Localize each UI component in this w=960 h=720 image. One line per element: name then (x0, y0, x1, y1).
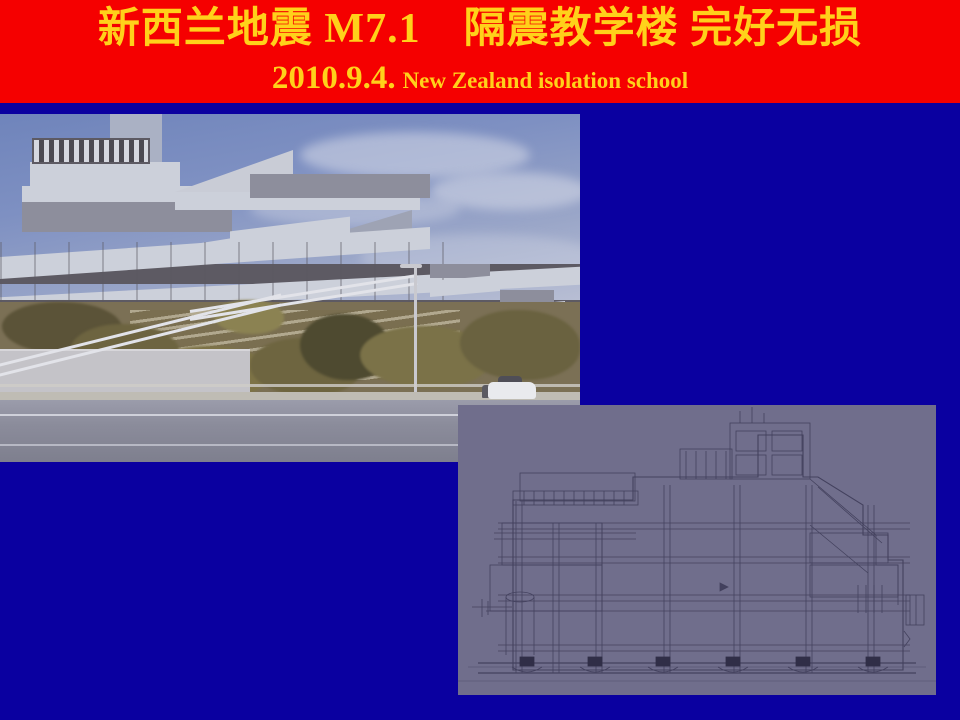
detail-box (906, 595, 924, 625)
title-banner: 新西兰地震 M7.1 隔震教学楼 完好无损 2010.9.4.New Zeala… (0, 0, 960, 103)
elevation-drawing-svg (458, 405, 936, 695)
elevation-drawing (458, 405, 936, 695)
penthouse-window (736, 431, 766, 451)
upper-roof-mass (520, 473, 635, 501)
white-car (488, 382, 536, 399)
penthouse-window (736, 455, 766, 475)
base-isolators (520, 657, 880, 666)
louvre-grid (524, 491, 624, 505)
building-parapet (30, 162, 180, 188)
round-element (506, 592, 534, 602)
penthouse-window (772, 455, 802, 475)
english-subtitle: New Zealand isolation school (403, 68, 689, 93)
street-lamp-arm (400, 264, 422, 268)
upper-fins (680, 449, 732, 479)
building-outline (513, 435, 903, 670)
cloud-shape (300, 132, 530, 178)
subtitle-line: 2010.9.4.New Zealand isolation school (0, 58, 960, 103)
reference-marker (720, 583, 728, 591)
louvre-fins (34, 140, 148, 162)
presentation-slide: 新西兰地震 M7.1 隔震教学楼 完好无损 2010.9.4.New Zeala… (0, 0, 960, 720)
page-title: 新西兰地震 M7.1 隔震教学楼 完好无损 (0, 4, 960, 54)
floor-lines (486, 523, 910, 651)
event-date: 2010.9.4. (272, 60, 396, 96)
left-annex (490, 565, 602, 611)
roof-mass (250, 174, 430, 198)
penthouse-window (772, 431, 802, 451)
